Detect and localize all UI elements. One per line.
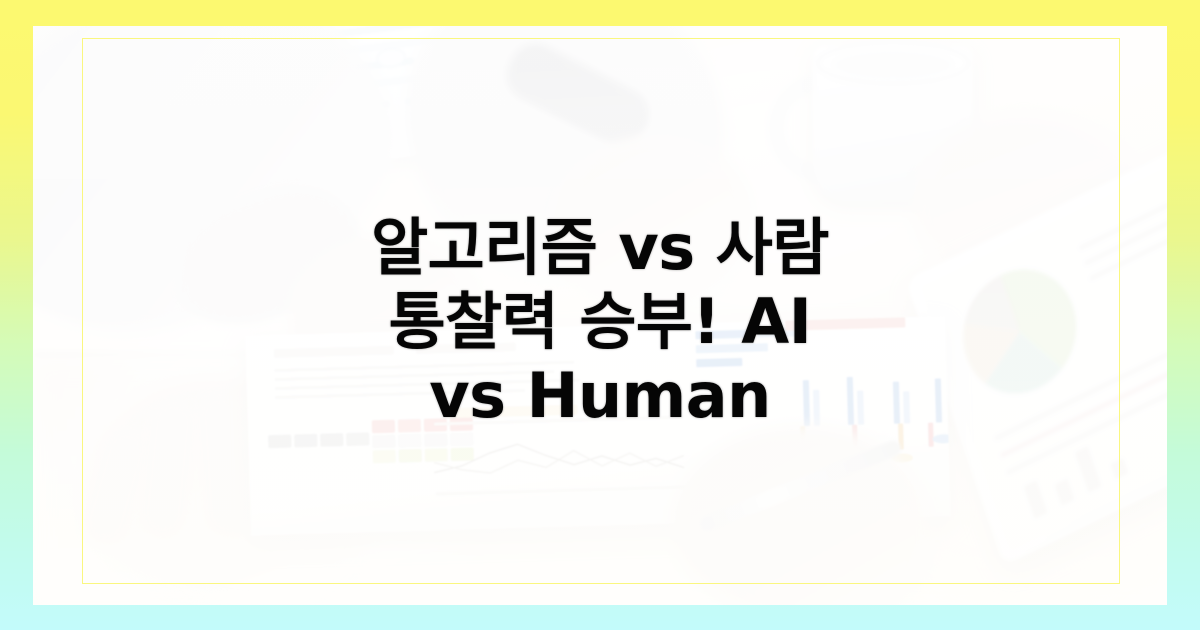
thumbnail-canvas: 알고리즘 vs 사람 통찰력 승부! AI vs Human (0, 0, 1200, 630)
title-line-2: 통찰력 승부! AI (389, 285, 812, 359)
title-line-3: vs Human (429, 359, 771, 433)
title-block: 알고리즘 vs 사람 통찰력 승부! AI vs Human (0, 0, 1200, 630)
title-line-1: 알고리즘 vs 사람 (371, 211, 829, 285)
